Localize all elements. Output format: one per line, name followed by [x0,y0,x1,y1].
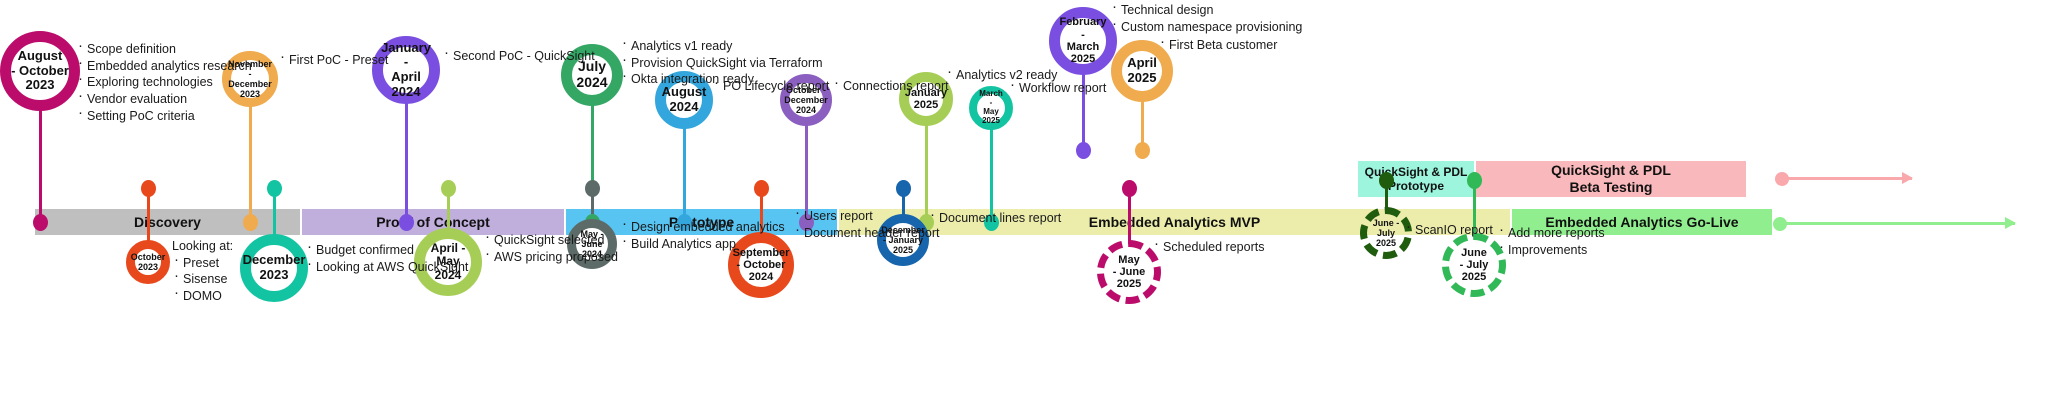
milestone-date-line: 2023 [11,78,69,93]
milestone-notes-list: ScanIO report [1404,222,1493,239]
milestone-date-line: - October [11,64,69,79]
milestone-notes-list: Second PoC - QuickSight [442,48,595,65]
phase-bar-discovery[interactable]: Discovery [35,209,300,235]
milestone-date-line: 2023 [243,268,306,283]
milestone-knob [141,180,156,197]
arrow-line [1780,222,2015,225]
overlay-bar-label-line2: Prototype [1388,179,1444,193]
milestone-note-item: Design embedded analytics [620,219,785,236]
milestone-stem [683,127,686,224]
phase-bar-label: Proof of Concept [376,214,490,230]
milestone-notes-list: Connections report [832,78,949,95]
milestone-note-item: Workflow report [1008,80,1106,97]
milestone-notes-april-2025: First Beta customer [1158,37,1277,54]
milestone-date-line: 2024 [381,85,431,100]
milestone-notes-heading: Looking at: [172,238,233,255]
milestone-knob [1122,180,1137,197]
milestone-date-line: 2025 [1373,238,1400,248]
timeline-roadmap: DiscoveryProof of ConceptPrototypeEmbedd… [0,0,2048,408]
milestone-date-line: March [1059,41,1106,53]
milestone-note-item: Custom namespace provisioning [1110,19,1302,36]
milestone-note-item: Connections report [832,78,949,95]
milestone-date-line: - July [1460,259,1489,271]
milestone-notes-december-january-2025: Document lines report [928,210,1061,227]
milestone-date-line: October [131,252,166,262]
milestone-notes-october-2023: Looking at:PresetSisenseDOMO [172,238,233,305]
milestone-knob [33,214,48,231]
milestone-date-label: June -July2025 [1373,218,1400,248]
milestone-notes-list: Design embedded analyticsBuild Analytics… [620,219,785,252]
milestone-date-line: 2023 [131,262,166,272]
milestone-note-item: Scheduled reports [1152,239,1264,256]
milestone-december-2023[interactable]: December2023 [240,234,308,302]
milestone-stem [39,109,42,224]
milestone-knob [896,180,911,197]
overlay-bar-label-line1: QuickSight & PDL [1551,162,1671,179]
milestone-note-item: Add more reports [1497,225,1605,242]
milestone-date-line: August [11,49,69,64]
milestone-notes-list: Budget confirmedLooking at AWS QuickSigh… [305,242,468,275]
milestone-note-item: Improvements [1497,242,1605,259]
milestone-date-line: 2024 [576,75,607,91]
milestone-notes-list: PresetSisenseDOMO [172,255,233,305]
milestone-date-line: 2025 [881,245,925,255]
milestone-date-line: 2025 [1127,71,1157,86]
milestone-date-label: October2023 [131,252,166,272]
milestone-note-item: Scope definition [76,41,252,58]
milestone-note-item: Build Analytics app [620,236,785,253]
milestone-note-item: Analytics v1 ready [620,38,823,55]
milestone-note-item: DOMO [172,288,233,305]
milestone-note-item: First Beta customer [1158,37,1277,54]
milestone-date-label: August2024 [662,85,707,114]
milestone-note-item: Budget confirmed [305,242,468,259]
milestone-notes-april-may-2024: QuickSight selectedAWS pricing proposed [483,232,618,265]
milestone-date-label: June- July2025 [1460,247,1489,284]
milestone-notes-list: Scope definitionEmbedded analytics resea… [76,41,252,124]
milestone-notes-may-june-2024: Design embedded analyticsBuild Analytics… [620,219,785,252]
milestone-knob [399,214,414,231]
milestone-october-2023[interactable]: October2023 [126,240,170,284]
milestone-date-line: April [1127,56,1157,71]
milestone-date-line: 2024 [784,105,828,115]
milestone-date-label: March -May2025 [977,90,1005,126]
milestone-notes-september-october-2024: Users reportDocument header report [793,208,940,241]
milestone-date-label: February -March2025 [1059,16,1106,65]
milestone-date-line: 2025 [977,117,1005,126]
milestone-note-item: Embedded analytics research [76,58,252,75]
arrow-start-dot [1773,217,1787,231]
milestone-note-item: Document lines report [928,210,1061,227]
milestone-notes-list: Workflow report [1008,80,1106,97]
milestone-notes-january-april-2024: Second PoC - QuickSight [442,48,595,65]
arrow-line [1782,177,1912,180]
milestone-notes-march-may-2025: Workflow report [1008,80,1106,97]
milestone-notes-list: Users reportDocument header report [793,208,940,241]
milestone-notes-list: First PoC - Preset [278,52,388,69]
milestone-note-item: Looking at AWS QuickSight [305,259,468,276]
milestone-note-item: Preset [172,255,233,272]
milestone-notes-february-march-2025: Technical designCustom namespace provisi… [1110,2,1302,35]
milestone-knob [754,180,769,197]
milestone-note-item: Vendor evaluation [76,91,252,108]
milestone-knob [585,180,600,197]
milestone-date-line: - June [1113,266,1145,278]
milestone-notes-list: Add more reportsImprovements [1497,225,1605,258]
overlay-bar-quicksight-pdl-prototype[interactable]: QuickSight & PDLPrototype [1358,161,1474,197]
milestone-notes-list: Document lines report [928,210,1061,227]
milestone-note-item: Exploring technologies [76,74,252,91]
milestone-notes-list: PO Lifecycle report [712,78,829,95]
milestone-august-october-2023[interactable]: August- October2023 [0,31,80,111]
milestone-note-item: QuickSight selected [483,232,618,249]
milestone-notes-december-2023: Budget confirmedLooking at AWS QuickSigh… [305,242,468,275]
milestone-date-line: December [784,95,828,105]
milestone-date-label: May- June2025 [1113,254,1145,291]
arrow-start-dot [1775,172,1789,186]
milestone-date-line: 2024 [733,271,790,283]
milestone-notes-list: First Beta customer [1158,37,1277,54]
milestone-knob [243,214,258,231]
milestone-date-line: - October [733,259,790,271]
milestone-date-line: March - [977,90,1005,108]
milestone-note-item: Setting PoC criteria [76,108,252,125]
milestone-notes-august-2024: PO Lifecycle report [712,78,829,95]
milestone-note-item: Users report [793,208,940,225]
milestone-notes-list: Technical designCustom namespace provisi… [1110,2,1302,35]
overlay-bar-quicksight-pdl-beta-testing[interactable]: QuickSight & PDLBeta Testing [1476,161,1746,197]
milestone-knob [1379,172,1394,189]
milestone-notes-october-december-2024: Connections report [832,78,949,95]
overlay-bar-label-line2: Beta Testing [1570,179,1653,196]
milestone-date-line: June - [1373,218,1400,228]
milestone-date-line: December [243,253,306,268]
phase-bar-label: Discovery [134,214,201,230]
milestone-knob [267,180,282,197]
milestone-date-line: May [1113,254,1145,266]
milestone-notes-june-july-2025-b: Add more reportsImprovements [1497,225,1605,258]
milestone-january-april-2024[interactable]: January -April2024 [372,36,440,104]
milestone-knob [1135,142,1150,159]
milestone-notes-august-october-2023: Scope definitionEmbedded analytics resea… [76,41,252,124]
milestone-notes-november-december-2023: First PoC - Preset [278,52,388,69]
milestone-notes-may-june-2025: Scheduled reports [1152,239,1264,256]
milestone-date-line: 2025 [1059,53,1106,65]
milestone-date-line: July [1373,228,1400,238]
milestone-note-item: First PoC - Preset [278,52,388,69]
milestone-knob [1467,172,1482,189]
milestone-date-line: April [381,70,431,85]
milestone-date-line: 2025 [905,99,947,111]
milestone-note-item: Technical design [1110,2,1302,19]
milestone-date-line: 2025 [1460,271,1489,283]
milestone-note-item: Provision QuickSight via Terraform [620,55,823,72]
milestone-date-label: April2025 [1127,56,1157,85]
milestone-stem [405,102,408,224]
milestone-date-label: December2023 [243,253,306,282]
milestone-date-label: January -April2024 [381,41,431,99]
milestone-notes-june-july-2025-a: ScanIO report [1404,222,1493,239]
milestone-date-line: 2025 [1113,278,1145,290]
milestone-notes-list: Scheduled reports [1152,239,1264,256]
milestone-knob [1076,142,1091,159]
go-live-arrow [1780,222,2015,225]
milestone-date-line: June [1460,247,1489,259]
milestone-knob [441,180,456,197]
milestone-february-march-2025[interactable]: February -March2025 [1049,7,1117,75]
milestone-notes-list: QuickSight selectedAWS pricing proposed [483,232,618,265]
milestone-note-item: AWS pricing proposed [483,249,618,266]
milestone-note-item: ScanIO report [1404,222,1493,239]
milestone-note-item: Document header report [793,225,940,242]
milestone-note-item: Sisense [172,271,233,288]
milestone-note-item: Second PoC - QuickSight [442,48,595,65]
beta-testing-arrow [1782,177,1912,180]
milestone-date-label: August- October2023 [11,49,69,93]
phase-bar-label: Embedded Analytics MVP [1089,214,1260,230]
milestone-date-line: 2024 [662,100,707,115]
milestone-march-may-2025[interactable]: March -May2025 [969,86,1013,130]
milestone-note-item: PO Lifecycle report [712,78,829,95]
milestone-date-line: February - [1059,16,1106,41]
milestone-date-line: January - [381,41,431,70]
